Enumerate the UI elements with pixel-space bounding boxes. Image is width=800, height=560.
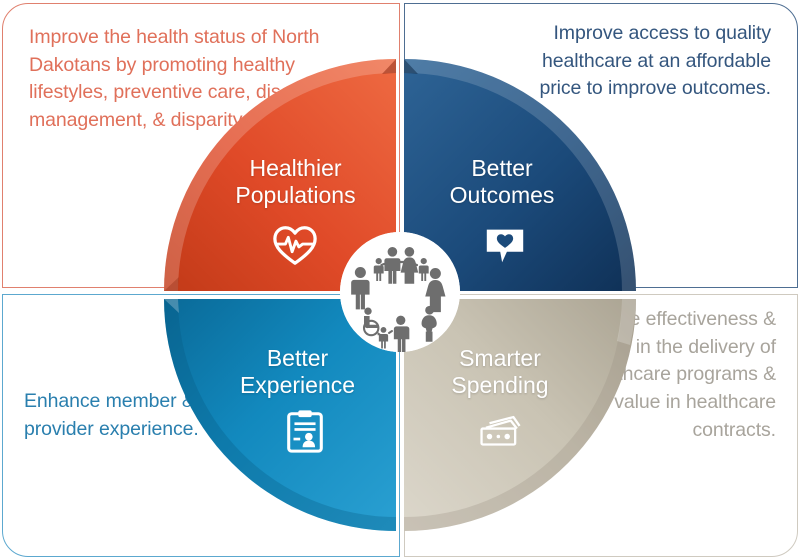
clipboard-person-icon <box>282 408 328 454</box>
wedge-label-smarter-spending: Smarter Spending <box>410 345 590 399</box>
heart-pulse-icon <box>272 222 318 268</box>
people-community-ring-icon <box>340 232 460 352</box>
wedge-label-better-outcomes: Better Outcomes <box>412 155 592 209</box>
wedge-label-healthier-populations: Healthier Populations <box>198 155 393 209</box>
money-banknotes-icon <box>478 410 524 456</box>
diagram-canvas: Improve the health status of North Dakot… <box>0 0 800 560</box>
wedge-label-better-experience: Better Experience <box>200 345 395 399</box>
speech-bubble-heart-icon <box>482 222 528 268</box>
